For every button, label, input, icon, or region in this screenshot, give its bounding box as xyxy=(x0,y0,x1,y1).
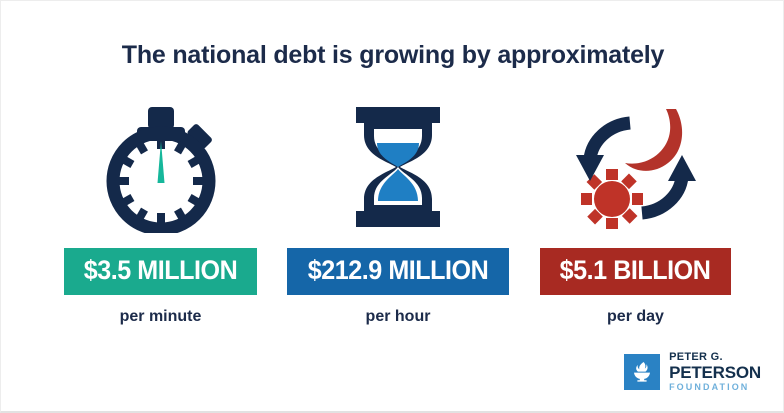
value-label: $5.1 BILLION xyxy=(560,255,711,286)
metric-card-per-minute: $3.5 MILLION per minute xyxy=(53,101,268,326)
metric-card-per-hour: $212.9 MILLION per hour xyxy=(291,101,506,326)
value-box-per-minute: $3.5 MILLION xyxy=(64,248,257,295)
metrics-row: $3.5 MILLION per minute xyxy=(53,101,743,341)
peterson-foundation-logo: PETER G. PETERSON FOUNDATION xyxy=(624,352,761,392)
value-label: $212.9 MILLION xyxy=(308,255,488,286)
torch-icon xyxy=(624,354,660,390)
stopwatch-icon xyxy=(99,101,223,233)
value-box-per-hour: $212.9 MILLION xyxy=(287,248,509,295)
logo-wordmark: PETER G. PETERSON FOUNDATION xyxy=(669,352,761,392)
value-label: $3.5 MILLION xyxy=(84,255,237,286)
value-box-per-day: $5.1 BILLION xyxy=(540,248,730,295)
caption-per-day: per day xyxy=(607,308,664,326)
caption-per-minute: per minute xyxy=(120,308,202,326)
metric-card-per-day: $5.1 BILLION per day xyxy=(528,101,743,326)
page-title: The national debt is growing by approxim… xyxy=(1,41,784,70)
infographic-canvas: The national debt is growing by approxim… xyxy=(0,0,784,413)
day-night-cycle-icon xyxy=(568,101,704,233)
logo-line-1: PETER G. xyxy=(669,352,761,363)
hourglass-icon xyxy=(340,101,456,233)
logo-line-2: PETERSON xyxy=(669,364,761,381)
logo-line-3: FOUNDATION xyxy=(669,383,761,392)
caption-per-hour: per hour xyxy=(366,308,431,326)
